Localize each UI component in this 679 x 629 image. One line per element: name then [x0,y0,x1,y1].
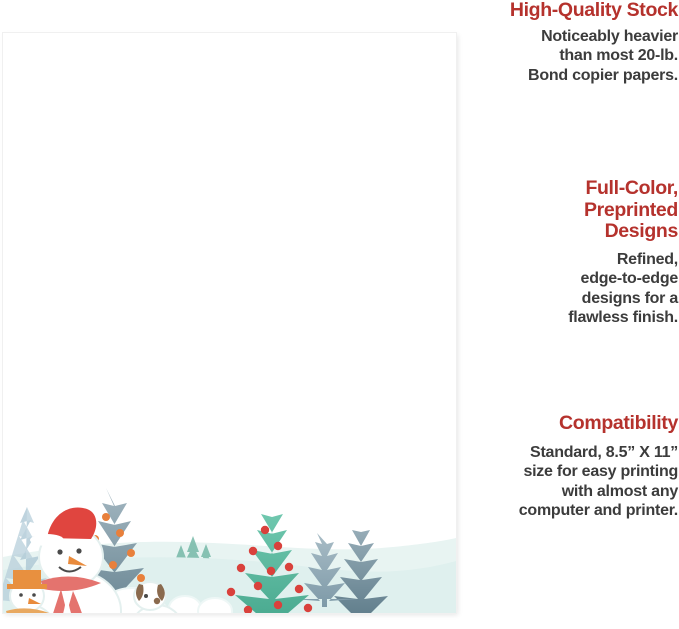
snowman-eye-left [57,549,62,554]
feature-body: Noticeably heavier than most 20-lb. Bond… [462,27,678,86]
feature-heading: High-Quality Stock [462,0,678,22]
feature-column: High-Quality Stock Noticeably heavier th… [462,0,679,629]
feature-block-compatibility: Compatibility Standard, 8.5” X 11” size … [462,413,678,521]
dog-snout [154,598,160,604]
dog-eye [144,594,148,598]
feature-heading: Compatibility [462,413,678,435]
santa-hat-brim [30,534,64,546]
feature-block-full-color-preprinted-designs: Full-Color, Preprinted Designs Refined, … [462,178,678,328]
paper-preview [3,33,456,613]
feature-heading: Full-Color, Preprinted Designs [462,178,678,243]
small-snowman-hat-brim [7,584,47,589]
winter-scene-artwork [3,33,456,613]
small-snowman-hat [13,570,41,584]
feature-block-high-quality-stock: High-Quality Stock Noticeably heavier th… [462,0,678,85]
snowman-eye-right [76,548,81,553]
feature-body: Standard, 8.5” X 11” size for easy print… [462,443,678,521]
santa-hat-pompom [37,507,49,519]
feature-body: Refined, edge-to-edge designs for a flaw… [462,250,678,328]
